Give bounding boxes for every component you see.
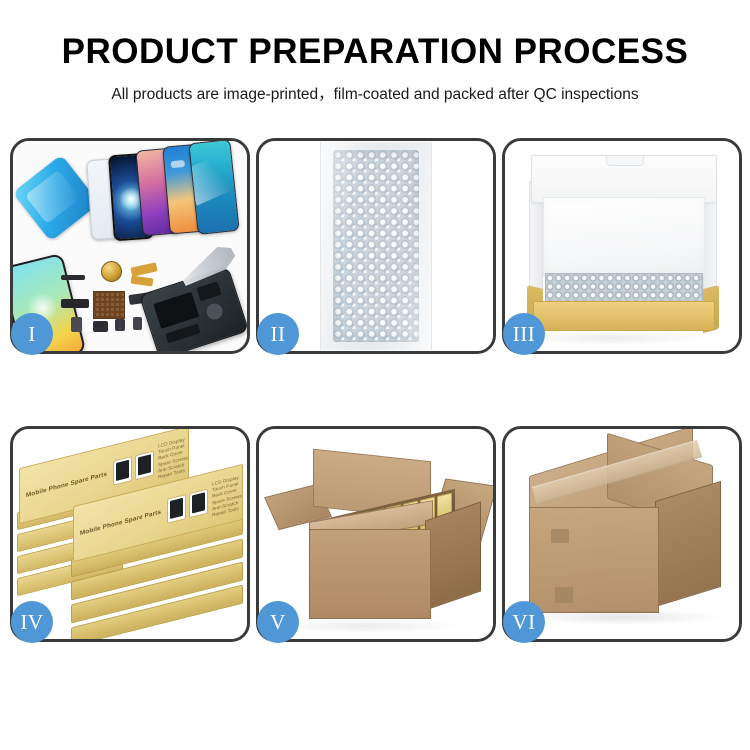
box-label-checklist: LCD Display Touch Panel Back Cover Spare…	[212, 474, 242, 518]
carton-front-panel	[529, 507, 659, 613]
box-label-title: Mobile Phone Spare Parts	[26, 470, 107, 499]
flex-cable-1-icon	[130, 262, 157, 276]
step-panel-1: I	[10, 138, 250, 354]
carton-side-panel	[655, 481, 721, 607]
bubble-texture	[333, 150, 419, 342]
bar-part-icon	[61, 275, 85, 280]
box-label-checklist: LCD Display Touch Panel Back Cover Spare…	[158, 436, 188, 480]
step-badge-1: I	[11, 313, 53, 355]
carton-mark-bottom	[555, 587, 573, 603]
foam-sheet	[543, 197, 705, 277]
step-badge-4: IV	[11, 601, 53, 643]
step-badge-3: III	[503, 313, 545, 355]
box-label-title: Mobile Phone Spare Parts	[80, 508, 161, 537]
label-screen-icon	[135, 450, 154, 480]
carton-front-panel	[309, 529, 431, 619]
page-header: PRODUCT PREPARATION PROCESS All products…	[0, 0, 750, 104]
mailer-box-icon	[527, 155, 719, 337]
step-panel-2: II	[256, 138, 496, 354]
label-screen-icon	[167, 493, 186, 523]
page-title: PRODUCT PREPARATION PROCESS	[0, 34, 750, 71]
step-badge-5: V	[257, 601, 299, 643]
step-badge-2: II	[257, 313, 299, 355]
step-5-image	[259, 429, 493, 639]
box-lid	[531, 155, 717, 203]
phone-screen-4-icon	[188, 141, 239, 235]
label-screen-icon	[189, 488, 208, 518]
drop-shadow	[523, 609, 723, 625]
button-part-2-icon	[133, 317, 142, 330]
flex-cable-3-icon	[61, 299, 89, 308]
step-panel-5: V	[256, 426, 496, 642]
camera-module-icon	[71, 317, 82, 332]
step-panel-3: III	[502, 138, 742, 354]
page-subtitle: All products are image-printed，film-coat…	[0, 82, 750, 104]
step-3-image	[505, 141, 739, 351]
carton-side-panel	[425, 501, 481, 610]
label-screen-icon	[113, 455, 132, 485]
step-1-image	[13, 141, 247, 351]
box-label-screens	[167, 488, 208, 523]
carton-mark-top	[551, 529, 569, 543]
box-label-screens	[113, 450, 154, 485]
open-carton-icon	[273, 449, 481, 631]
step-panel-6: VI	[502, 426, 742, 642]
flex-cable-2-icon	[131, 276, 154, 287]
step-panel-4: Mobile Phone Spare Parts LCD Display Tou…	[10, 426, 250, 642]
step-6-image	[505, 429, 739, 639]
bubble-wrap-pouch-icon	[320, 142, 432, 350]
button-part-1-icon	[115, 319, 125, 331]
phone-lineup-icon	[19, 145, 247, 257]
step-2-image	[259, 141, 493, 351]
sealed-carton-icon	[521, 451, 727, 629]
step-4-image: Mobile Phone Spare Parts LCD Display Tou…	[13, 429, 247, 639]
coil-part-icon	[101, 261, 122, 282]
speaker-part-icon	[93, 321, 108, 332]
box-front-panel	[533, 301, 715, 331]
step-badge-6: VI	[503, 601, 545, 643]
chip-grid-icon	[93, 291, 125, 319]
process-steps-grid: I II III	[10, 138, 742, 642]
